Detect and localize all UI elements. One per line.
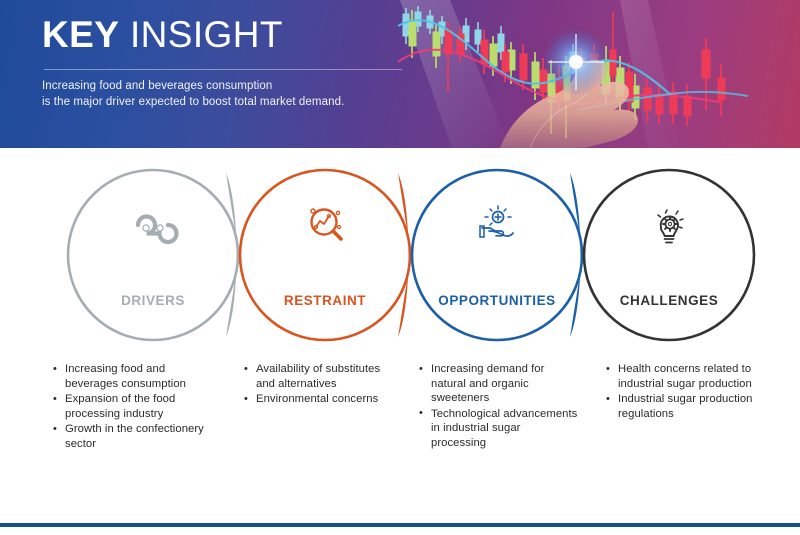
stage-label-drivers[interactable]: DRIVERS [121, 293, 185, 308]
header-title-block: KEY INSIGHT Increasing food and beverage… [42, 12, 412, 110]
bullet-column-challenges: Health concerns related to industrial su… [605, 362, 765, 422]
stage-label-restraint[interactable]: RESTRAINT [284, 293, 366, 308]
bullet-item: Industrial sugar production regulations [605, 392, 765, 421]
bullet-item: Growth in the confectionery sector [52, 422, 217, 451]
stage-circle-restraint [240, 170, 410, 340]
bullet-item: Environmental concerns [243, 392, 393, 407]
magnifier-chart-icon [311, 209, 341, 239]
stage-label-opportunities[interactable]: OPPORTUNITIES [438, 293, 555, 308]
footer-rule [0, 523, 800, 527]
bullet-column-drivers: Increasing food and beverages consumptio… [52, 362, 217, 453]
page-title-light: INSIGHT [130, 14, 283, 55]
bullet-column-opportunities: Increasing demand for natural and organi… [418, 362, 578, 452]
header-banner: KEY INSIGHT Increasing food and beverage… [0, 0, 800, 148]
stage-circles-svg [0, 148, 800, 358]
bullet-column-restraint: Availability of substitutes and alternat… [243, 362, 393, 408]
header-subtitle-line2: is the major driver expected to boost to… [42, 95, 412, 111]
title-divider [44, 69, 402, 70]
stage-circle-challenges [584, 170, 754, 340]
stage-diagram: DRIVERS RESTRAINT OPPORTUNITIES CHALLENG… [0, 148, 800, 358]
stage-circle-opportunities [412, 170, 582, 340]
stage-label-challenges[interactable]: CHALLENGES [620, 293, 719, 308]
page-title-bold: KEY [42, 14, 119, 55]
page-title: KEY INSIGHT [42, 12, 412, 58]
bullet-item: Increasing demand for natural and organi… [418, 362, 578, 406]
bullet-item: Technological advancements in industrial… [418, 407, 578, 451]
stock-chart-photo [380, 0, 800, 148]
header-subtitle-line1: Increasing food and beverages consumptio… [42, 79, 412, 95]
hand-holding-sun-icon [480, 206, 513, 237]
stage-circle-drivers [68, 170, 238, 340]
bullet-item: Health concerns related to industrial su… [605, 362, 765, 391]
infinity-loop-icon [138, 217, 177, 243]
bullet-item: Expansion of the food processing industr… [52, 392, 217, 421]
bullet-columns: Increasing food and beverages consumptio… [0, 362, 800, 492]
header-subtitle: Increasing food and beverages consumptio… [42, 79, 412, 110]
bullet-item: Increasing food and beverages consumptio… [52, 362, 217, 391]
lightbulb-gear-icon [658, 210, 683, 243]
bullet-item: Availability of substitutes and alternat… [243, 362, 393, 391]
